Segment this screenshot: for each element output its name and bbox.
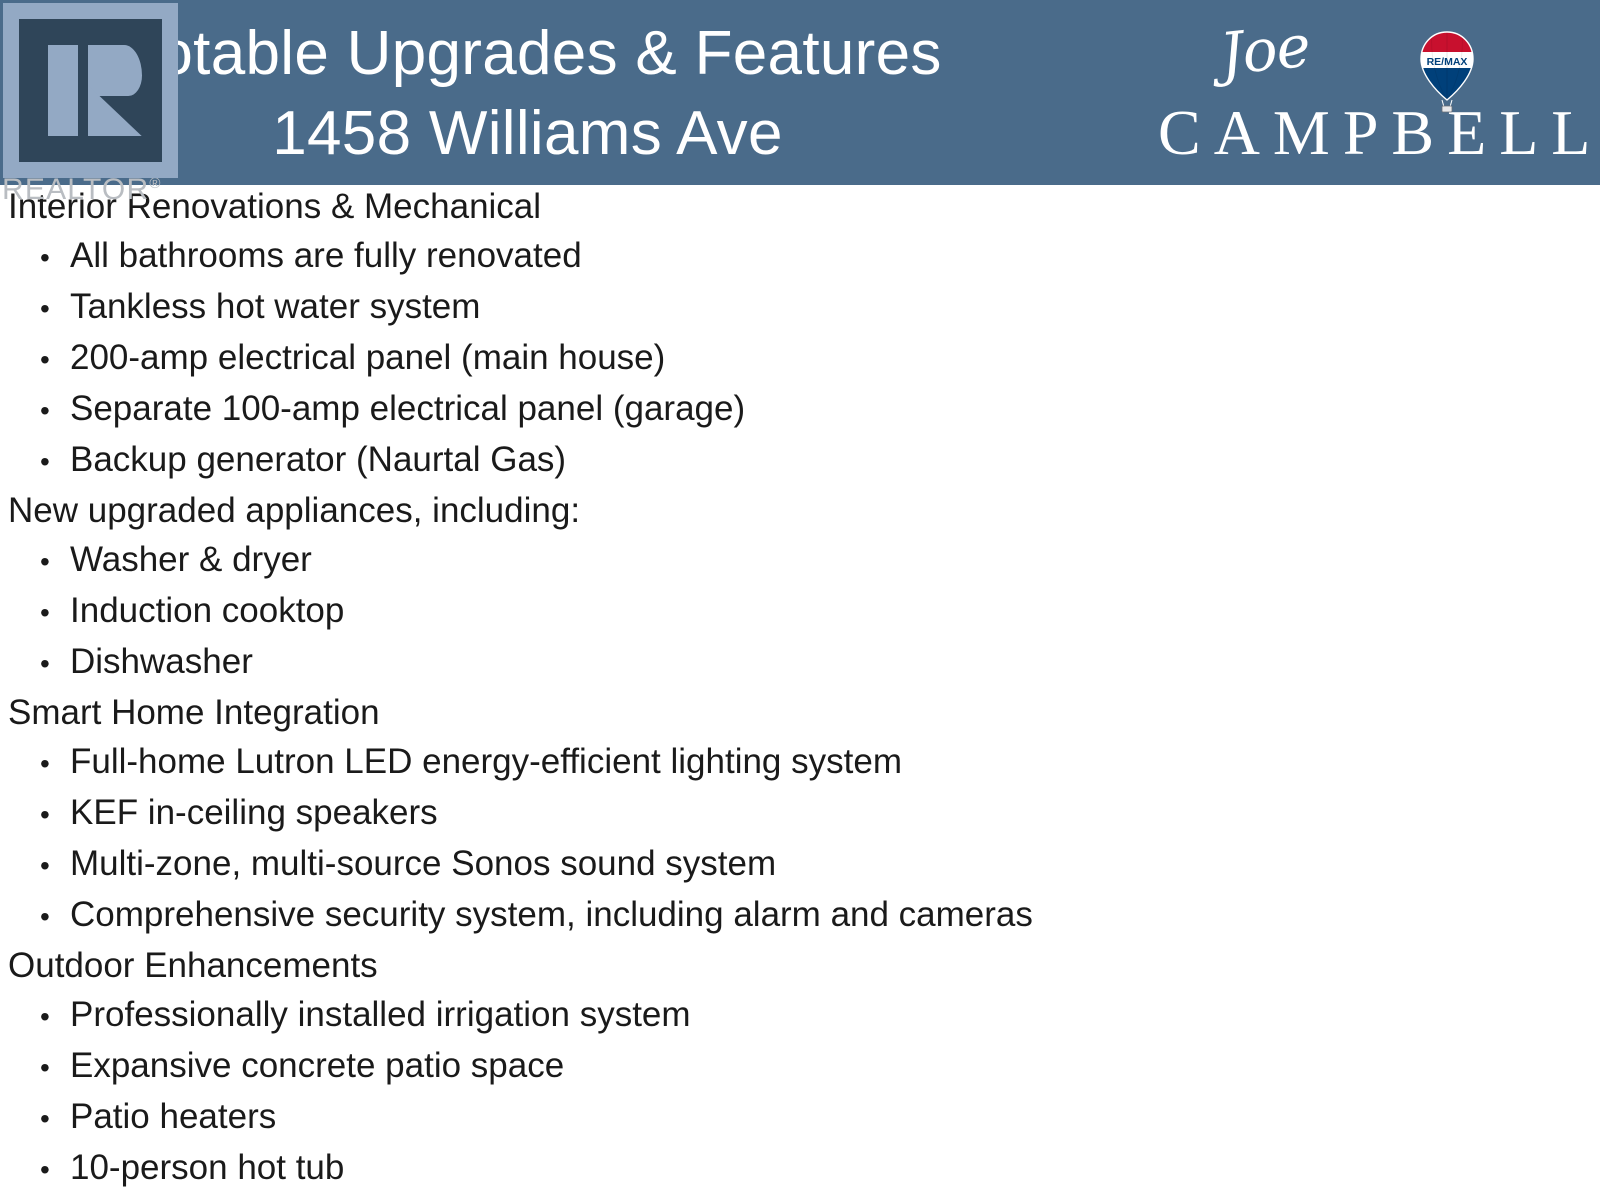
list-item: • Multi-zone, multi-source Sonos sound s…: [0, 839, 1600, 890]
realtor-logo-r-bowl: [88, 45, 142, 96]
bullet-icon: •: [40, 537, 70, 586]
list-item: • All bathrooms are fully renovated: [0, 231, 1600, 282]
section-heading: New upgraded appliances, including:: [0, 486, 1600, 535]
list-item: • Separate 100-amp electrical panel (gar…: [0, 384, 1600, 435]
realtor-logo-square: [19, 19, 162, 162]
list-item: • 200-amp electrical panel (main house): [0, 333, 1600, 384]
feature-section: Smart Home Integration • Full-home Lutro…: [0, 688, 1600, 941]
list-item: • Tankless hot water system: [0, 282, 1600, 333]
list-item-label: Backup generator (Naurtal Gas): [70, 435, 566, 484]
bullet-icon: •: [40, 284, 70, 333]
bullet-icon: •: [40, 588, 70, 637]
section-heading: Outdoor Enhancements: [0, 941, 1600, 990]
list-item-label: All bathrooms are fully renovated: [70, 231, 582, 280]
list-item: • Full-home Lutron LED energy-efficient …: [0, 737, 1600, 788]
bullet-icon: •: [40, 790, 70, 839]
list-item: • Expansive concrete patio space: [0, 1041, 1600, 1092]
remax-balloon-icon: RE/MAX: [1418, 30, 1476, 115]
realtor-r-logo: [3, 3, 178, 178]
list-item-label: 200-amp electrical panel (main house): [70, 333, 665, 382]
bullet-icon: •: [40, 386, 70, 435]
list-item: • Induction cooktop: [0, 586, 1600, 637]
bullet-icon: •: [40, 437, 70, 486]
list-item: • Washer & dryer: [0, 535, 1600, 586]
list-item: • 10-person hot tub: [0, 1143, 1600, 1194]
brand-logo-joe-campbell: Joe CAMPBELL RE/MAX: [1150, 8, 1600, 178]
realtor-logo-r-stem: [48, 45, 78, 137]
bullet-icon: •: [40, 335, 70, 384]
bullet-icon: •: [40, 233, 70, 282]
bullet-icon: •: [40, 992, 70, 1041]
header-band: Notable Upgrades & Features 1458 William…: [0, 0, 1600, 185]
list-item: • Professionally installed irrigation sy…: [0, 990, 1600, 1041]
list-item-label: Dishwasher: [70, 637, 253, 686]
list-item-label: Tankless hot water system: [70, 282, 480, 331]
brand-script-name: Joe: [1217, 12, 1313, 89]
bullet-icon: •: [40, 1094, 70, 1143]
list-item-label: KEF in-ceiling speakers: [70, 788, 438, 837]
list-item-label: Multi-zone, multi-source Sonos sound sys…: [70, 839, 776, 888]
feature-section: New upgraded appliances, including: • Wa…: [0, 486, 1600, 688]
list-item: • KEF in-ceiling speakers: [0, 788, 1600, 839]
list-item: • Comprehensive security system, includi…: [0, 890, 1600, 941]
remax-wordmark: RE/MAX: [1427, 56, 1468, 68]
list-item-label: Expansive concrete patio space: [70, 1041, 564, 1090]
realtor-wordmark: REALTOR®: [2, 173, 162, 207]
section-heading: Smart Home Integration: [0, 688, 1600, 737]
list-item-label: Separate 100-amp electrical panel (garag…: [70, 384, 745, 433]
features-list: Interior Renovations & Mechanical • All …: [0, 182, 1600, 1194]
list-item: • Backup generator (Naurtal Gas): [0, 435, 1600, 486]
list-item-label: Professionally installed irrigation syst…: [70, 990, 691, 1039]
bullet-icon: •: [40, 1145, 70, 1194]
list-item-label: Patio heaters: [70, 1092, 276, 1141]
list-item-label: Full-home Lutron LED energy-efficient li…: [70, 737, 902, 786]
bullet-icon: •: [40, 841, 70, 890]
feature-section: Outdoor Enhancements • Professionally in…: [0, 941, 1600, 1194]
feature-section: Interior Renovations & Mechanical • All …: [0, 182, 1600, 486]
list-item-label: Comprehensive security system, including…: [70, 890, 1033, 939]
section-heading: Interior Renovations & Mechanical: [0, 182, 1600, 231]
list-item-label: Washer & dryer: [70, 535, 312, 584]
bullet-icon: •: [40, 1043, 70, 1092]
list-item-label: Induction cooktop: [70, 586, 344, 635]
brand-surname: CAMPBELL: [1158, 96, 1600, 170]
list-item-label: 10-person hot tub: [70, 1143, 344, 1192]
list-item: • Dishwasher: [0, 637, 1600, 688]
bullet-icon: •: [40, 639, 70, 688]
bullet-icon: •: [40, 739, 70, 788]
bullet-icon: •: [40, 892, 70, 941]
list-item: • Patio heaters: [0, 1092, 1600, 1143]
